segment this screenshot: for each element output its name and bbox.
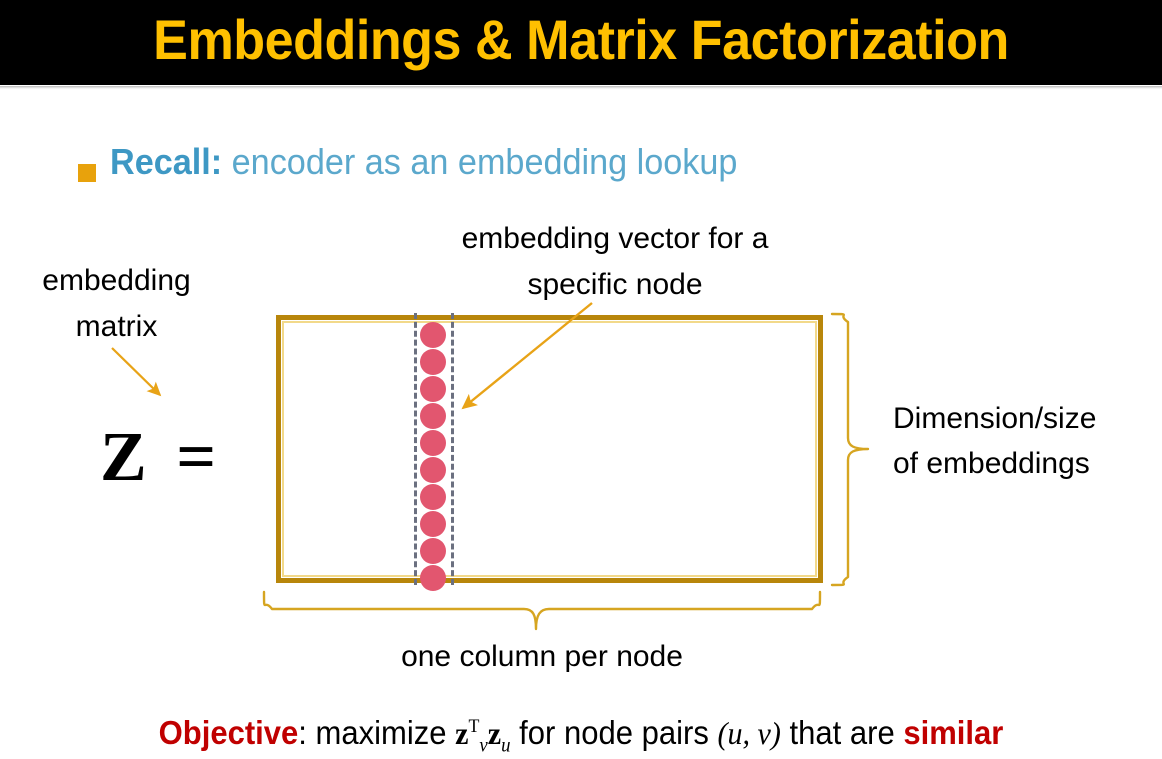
- objective-label: Objective: [159, 714, 299, 751]
- embedding-matrix-label-line1: embedding: [4, 258, 229, 304]
- embedding-matrix-label-line2: matrix: [4, 304, 229, 350]
- dimension-size-label: Dimension/size of embeddings: [893, 396, 1161, 486]
- embedding-vector-label-line1: embedding vector for a: [370, 216, 860, 262]
- embedding-vector-dot: [420, 403, 446, 429]
- title-banner: Embeddings & Matrix Factorization: [0, 0, 1162, 85]
- column-brace: [262, 589, 822, 631]
- objective-middle: for node pairs: [511, 714, 718, 751]
- embedding-matrix-label: embedding matrix: [4, 258, 229, 350]
- matrix-symbol-z: Z =: [100, 418, 222, 498]
- dimension-brace: [828, 312, 870, 587]
- square-bullet-icon: [78, 164, 96, 182]
- objective-statement: Objective: maximize zTvzu for node pairs…: [35, 714, 1127, 758]
- dimension-size-label-line1: Dimension/size: [893, 396, 1161, 441]
- embedding-vector-dot: [420, 322, 446, 348]
- embedding-vector-dot: [420, 349, 446, 375]
- recall-bullet-text: Recall: encoder as an embedding lookup: [110, 141, 737, 183]
- pair-v: v: [758, 715, 771, 751]
- embedding-vector-dot: [420, 538, 446, 564]
- objective-emphasis: similar: [903, 714, 1003, 751]
- objective-colon: :: [298, 714, 315, 751]
- z-left-transpose: T: [469, 716, 480, 737]
- objective-verb: maximize: [316, 714, 456, 751]
- embedding-vector-dot: [420, 511, 446, 537]
- embedding-vector-dot: [420, 565, 446, 591]
- embedding-vector-label-line2: specific node: [370, 262, 860, 308]
- recall-label: Recall:: [110, 141, 222, 182]
- embedding-matrix-box: [276, 315, 823, 583]
- embedding-vector-dot: [420, 484, 446, 510]
- pair-open-paren: (: [717, 715, 727, 751]
- one-column-per-node-label: one column per node: [262, 640, 822, 674]
- pair-close-paren: ): [771, 715, 781, 751]
- embedding-vector-label: embedding vector for a specific node: [370, 216, 860, 308]
- recall-description: encoder as an embedding lookup: [222, 141, 737, 182]
- dimension-size-label-line2: of embeddings: [893, 441, 1161, 486]
- z-left-symbol: z: [455, 715, 468, 751]
- arrow-to-matrix: [112, 348, 160, 395]
- embedding-vector-dot: [420, 376, 446, 402]
- embedding-matrix-box-inner-border: [282, 321, 817, 577]
- objective-tail: that are: [781, 714, 903, 751]
- z-right-symbol: z: [488, 715, 501, 751]
- embedding-vector-dot: [420, 457, 446, 483]
- z-right-subscript: u: [501, 735, 510, 757]
- page-title: Embeddings & Matrix Factorization: [41, 0, 1122, 85]
- z-left-subscript: v: [479, 735, 487, 757]
- title-divider: [0, 86, 1162, 89]
- embedding-vector-dot: [420, 430, 446, 456]
- pair-u: u: [727, 715, 742, 751]
- pair-comma: ,: [743, 715, 758, 751]
